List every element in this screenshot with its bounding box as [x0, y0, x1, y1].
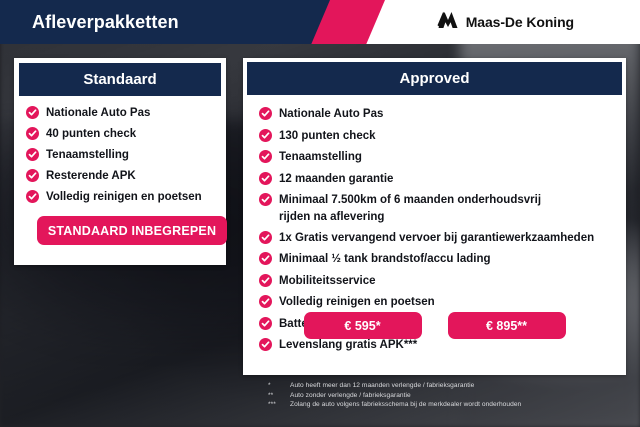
check-circle-icon	[259, 231, 272, 244]
footnote-double-asterisk: ** Auto zonder verlengde / fabrieksgaran…	[268, 391, 521, 401]
feature-label: Volledig reinigen en poetsen	[46, 190, 202, 204]
footnote-text: Auto zonder verlengde / fabrieksgarantie	[290, 391, 411, 401]
feature-label: 130 punten check	[279, 129, 376, 143]
footnote-marker: **	[268, 391, 290, 401]
check-circle-icon	[259, 107, 272, 120]
check-circle-icon	[259, 150, 272, 163]
check-circle-icon	[26, 106, 39, 119]
footnotes: * Auto heeft meer dan 12 maanden verleng…	[268, 381, 521, 410]
check-circle-icon	[259, 274, 272, 287]
feature-label-continuation: rijden na aflevering	[259, 210, 612, 224]
list-item: Tenaamstelling	[259, 150, 612, 164]
standaard-inbegrepen-button[interactable]: STANDAARD INBEGREPEN	[37, 216, 227, 245]
check-circle-icon	[259, 338, 272, 351]
check-circle-icon	[26, 148, 39, 161]
list-item: Volledig reinigen en poetsen	[26, 190, 214, 204]
footnote-text: Auto heeft meer dan 12 maanden verlengde…	[290, 381, 474, 391]
feature-list-approved: Nationale Auto Pas 130 punten check Tena…	[259, 107, 612, 207]
package-title-standaard: Standaard	[19, 63, 221, 96]
feature-label: Resterende APK	[46, 169, 136, 183]
feature-label: Tenaamstelling	[279, 150, 362, 164]
check-circle-icon	[26, 190, 39, 203]
brand-name: Maas-De Koning	[466, 14, 574, 30]
feature-label: Volledig reinigen en poetsen	[279, 295, 435, 309]
package-card-approved: Approved Nationale Auto Pas 130 punten c…	[243, 58, 626, 375]
brand-lockup: Maas-De Koning	[437, 0, 574, 44]
feature-list-standaard: Nationale Auto Pas 40 punten check Tenaa…	[26, 106, 214, 204]
list-item: Volledig reinigen en poetsen	[259, 295, 612, 309]
check-circle-icon	[259, 193, 272, 206]
page-header: Afleverpakketten Maas-De Koning	[0, 0, 640, 44]
package-card-standaard: Standaard Nationale Auto Pas 40 punten c…	[14, 58, 226, 265]
list-item: Minimaal ½ tank brandstof/accu lading	[259, 252, 612, 266]
list-item: Mobiliteitsservice	[259, 274, 612, 288]
list-item: Resterende APK	[26, 169, 214, 183]
feature-label: 12 maanden garantie	[279, 172, 393, 186]
footnote-single-asterisk: * Auto heeft meer dan 12 maanden verleng…	[268, 381, 521, 391]
feature-label: Nationale Auto Pas	[46, 106, 150, 120]
list-item: 40 punten check	[26, 127, 214, 141]
list-item: Minimaal 7.500km of 6 maanden onderhouds…	[259, 193, 612, 207]
footnote-marker: *	[268, 381, 290, 391]
feature-label: Minimaal 7.500km of 6 maanden onderhouds…	[279, 193, 541, 207]
footnote-triple-asterisk: *** Zolang de auto volgens fabrieksschem…	[268, 400, 521, 410]
list-item: 1x Gratis vervangend vervoer bij garanti…	[259, 231, 612, 245]
price-button-row: € 595* € 895**	[243, 312, 626, 339]
feature-label: Tenaamstelling	[46, 148, 129, 162]
list-item: Tenaamstelling	[26, 148, 214, 162]
price-button-895[interactable]: € 895**	[448, 312, 566, 339]
page-title: Afleverpakketten	[32, 0, 179, 44]
check-circle-icon	[259, 172, 272, 185]
package-body-standaard: Nationale Auto Pas 40 punten check Tenaa…	[14, 96, 226, 204]
price-button-595[interactable]: € 595*	[304, 312, 422, 339]
check-circle-icon	[259, 252, 272, 265]
check-circle-icon	[26, 127, 39, 140]
check-circle-icon	[259, 129, 272, 142]
check-circle-icon	[26, 169, 39, 182]
slide-root: Afleverpakketten Maas-De Koning Standaar…	[0, 0, 640, 427]
package-title-approved: Approved	[247, 62, 622, 95]
list-item: 12 maanden garantie	[259, 172, 612, 186]
list-item: Levenslang gratis APK***	[259, 338, 612, 352]
list-item: Nationale Auto Pas	[26, 106, 214, 120]
feature-label: Nationale Auto Pas	[279, 107, 383, 121]
feature-label: 1x Gratis vervangend vervoer bij garanti…	[279, 231, 594, 245]
list-item: 130 punten check	[259, 129, 612, 143]
feature-label: 40 punten check	[46, 127, 136, 141]
footnote-marker: ***	[268, 400, 290, 410]
footnote-text: Zolang de auto volgens fabrieksschema bi…	[290, 400, 521, 410]
check-circle-icon	[259, 295, 272, 308]
feature-label: Levenslang gratis APK***	[279, 338, 417, 352]
feature-label: Mobiliteitsservice	[279, 274, 376, 288]
maas-de-koning-m-logo-icon	[437, 11, 459, 34]
feature-label: Minimaal ½ tank brandstof/accu lading	[279, 252, 491, 266]
list-item: Nationale Auto Pas	[259, 107, 612, 121]
